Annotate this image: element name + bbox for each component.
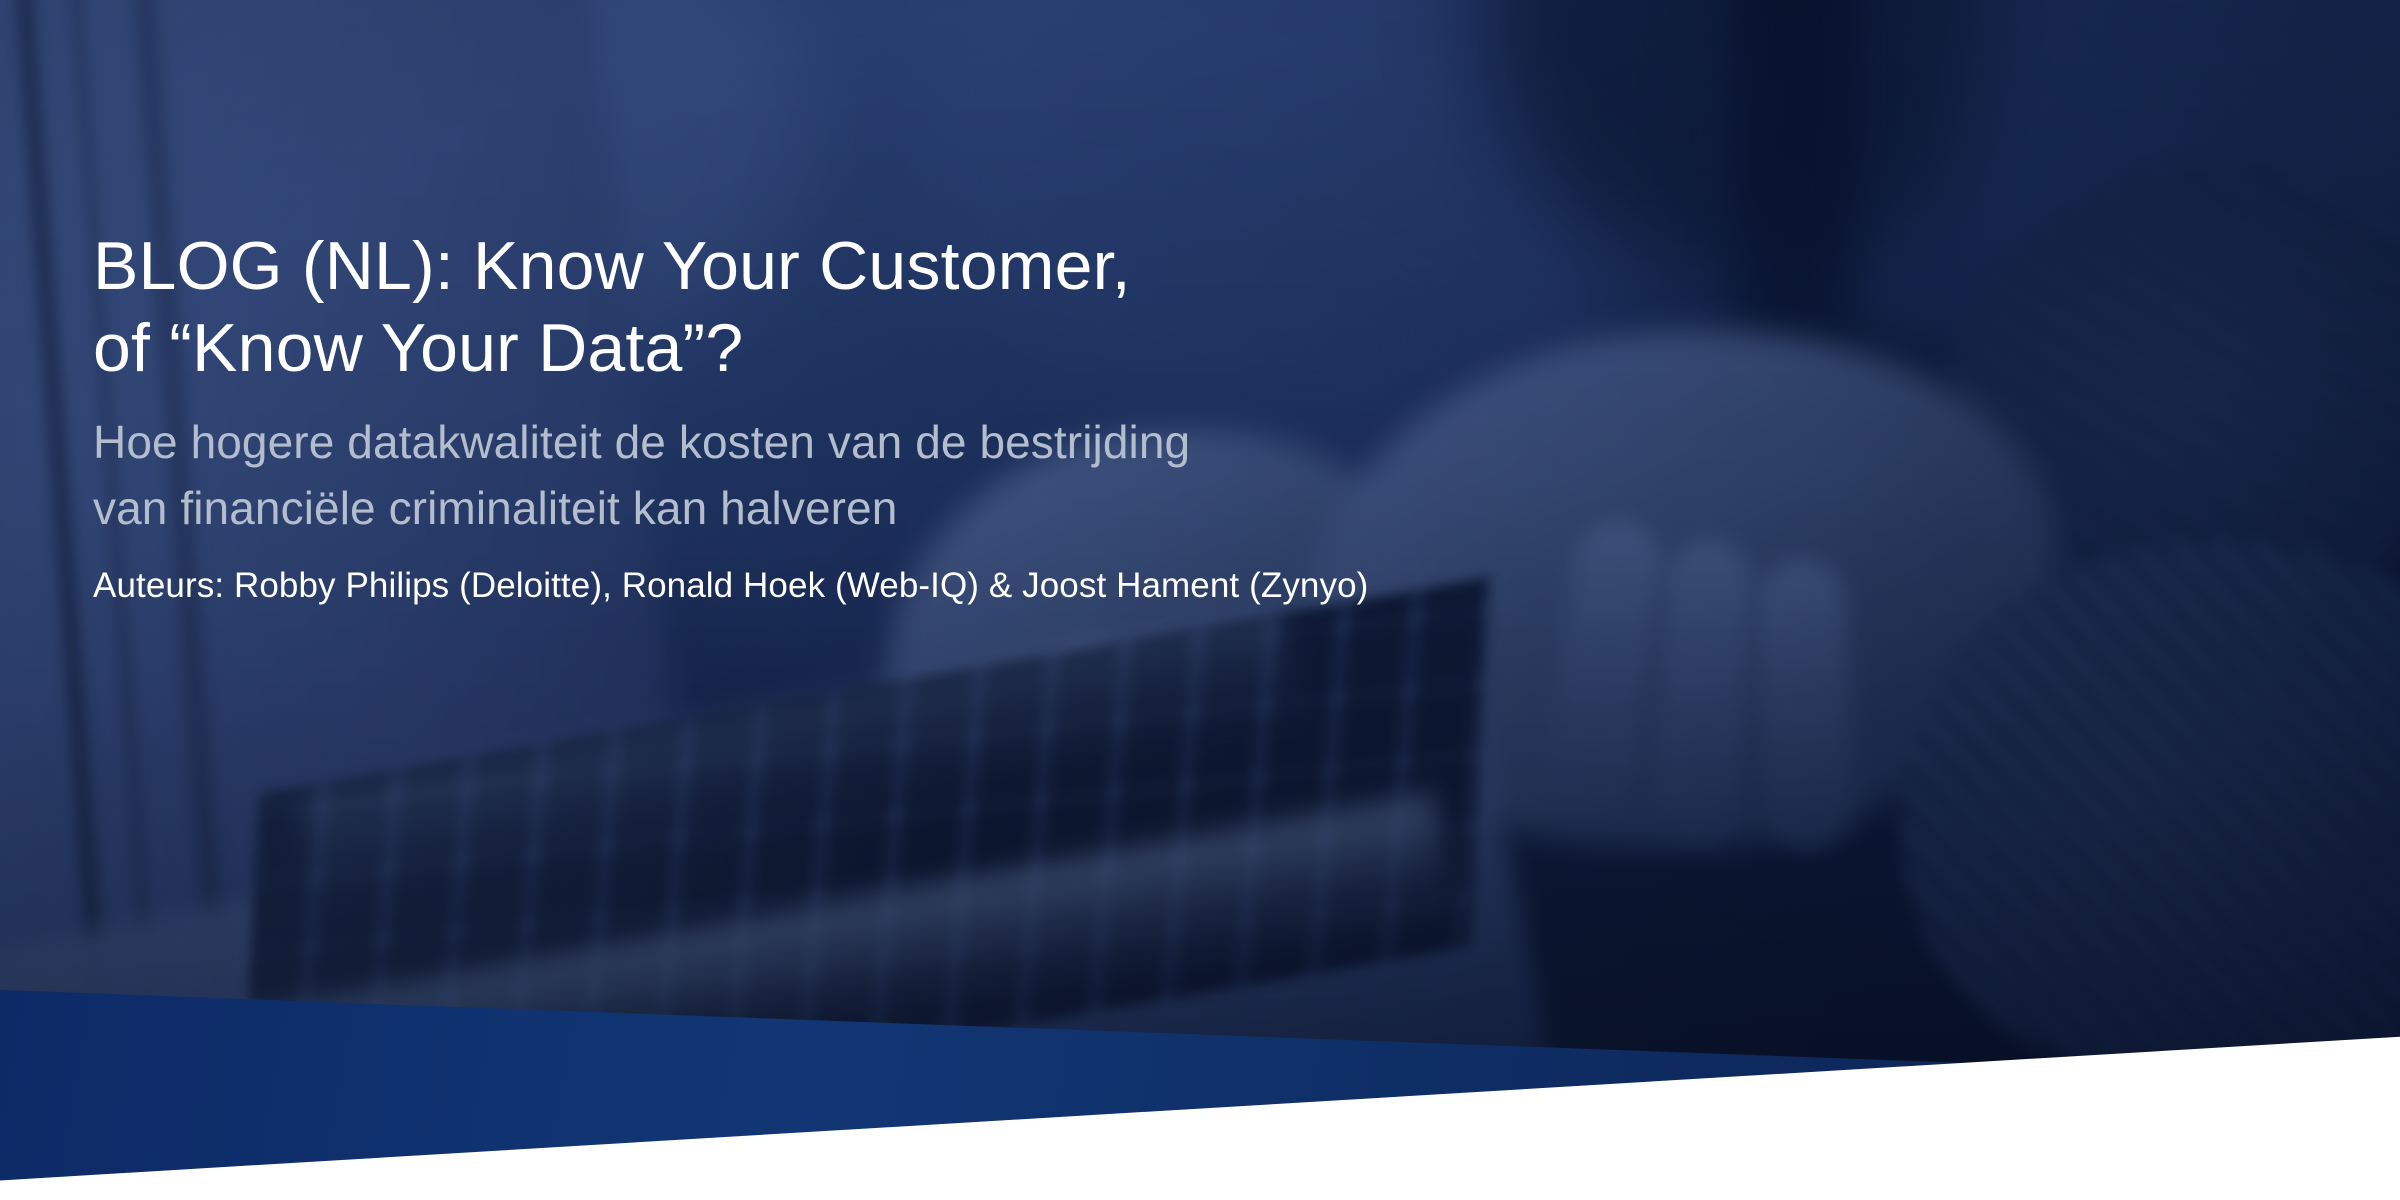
- banner-text-block: BLOG (NL): Know Your Customer, of “Know …: [93, 225, 2093, 607]
- banner-title: BLOG (NL): Know Your Customer, of “Know …: [93, 225, 2093, 389]
- blog-header-banner: BLOG (NL): Know Your Customer, of “Know …: [0, 0, 2400, 1200]
- banner-subtitle: Hoe hogere datakwaliteit de kosten van d…: [93, 409, 2093, 541]
- banner-authors: Auteurs: Robby Philips (Deloitte), Ronal…: [93, 565, 2093, 607]
